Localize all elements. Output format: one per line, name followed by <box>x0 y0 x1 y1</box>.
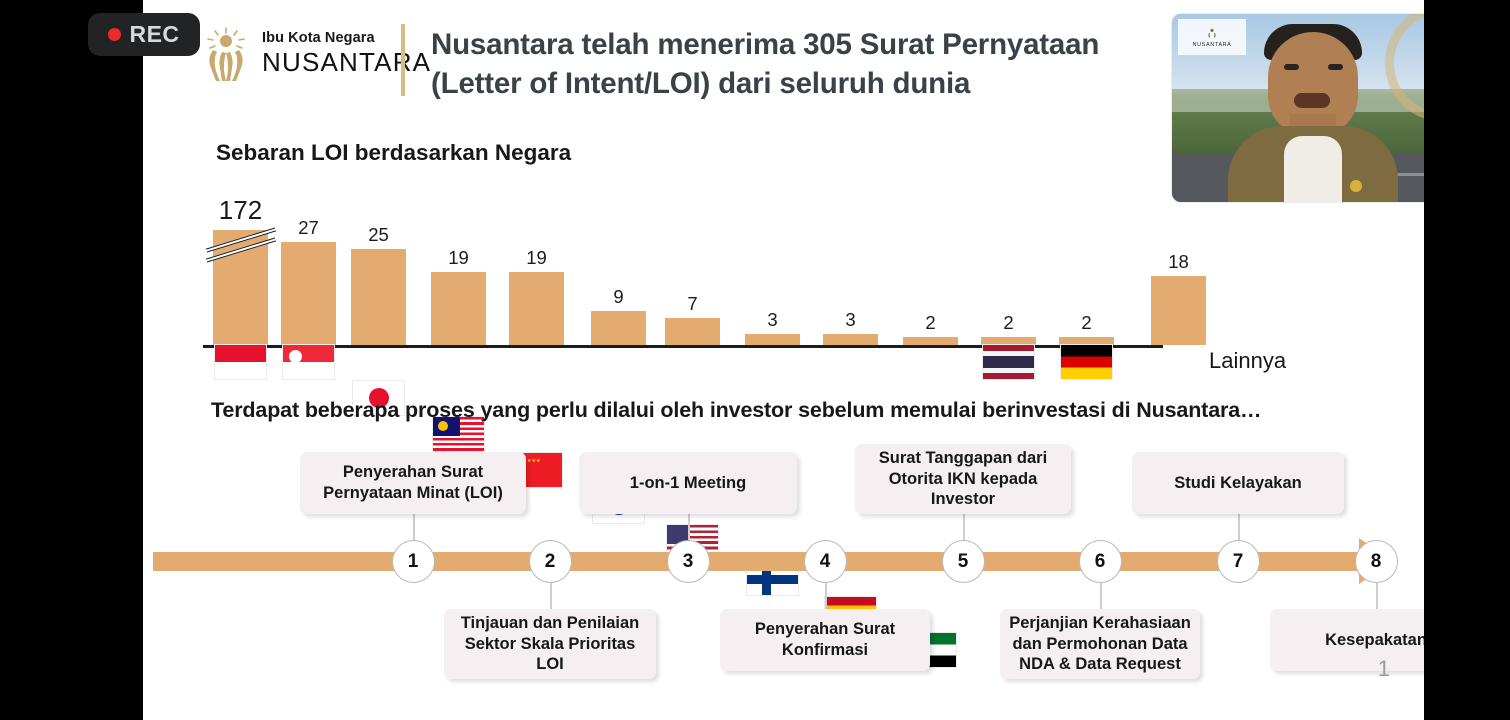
watermark-emblem-icon <box>1204 26 1220 41</box>
watermark-label: NUSANTARA <box>1193 42 1232 48</box>
timeline-node-1[interactable]: 1 <box>392 540 435 583</box>
timeline-node-6[interactable]: 6 <box>1079 540 1122 583</box>
flag-id-icon <box>214 344 267 380</box>
timeline-step-label: Penyerahan SuratPernyataan Minat (LOI) <box>323 462 503 503</box>
timeline-connector <box>1376 583 1378 609</box>
speaker-eye <box>1328 64 1343 70</box>
timeline-node-3[interactable]: 3 <box>667 540 710 583</box>
timeline-step-label: Tinjauan dan PenilaianSektor Skala Prior… <box>461 613 640 675</box>
nusantara-logo: Ibu Kota Negara NUSANTARA <box>200 24 431 82</box>
bar-value-label: 27 <box>281 217 336 239</box>
timeline-node-2[interactable]: 2 <box>529 540 572 583</box>
timeline-connector <box>413 514 415 540</box>
bar-column: 172 <box>213 196 268 345</box>
bar <box>823 334 878 346</box>
timeline-step-card[interactable]: 1-on-1 Meeting <box>579 452 797 514</box>
chart-tick-lainnya: Lainnya <box>1209 348 1286 374</box>
bar-column: 19 <box>509 238 564 345</box>
timeline-step-label: Surat Tanggapan dariOtorita IKN kepadaIn… <box>879 448 1047 510</box>
timeline-node-8[interactable]: 8 <box>1355 540 1398 583</box>
flag-sg-icon <box>282 344 335 380</box>
bar-column: 3 <box>823 300 878 346</box>
chart-title: Sebaran LOI berdasarkan Negara <box>216 140 571 166</box>
timeline-step-card[interactable]: Surat Tanggapan dariOtorita IKN kepadaIn… <box>855 444 1071 514</box>
timeline-step-card[interactable]: Studi Kelayakan <box>1132 452 1344 514</box>
bar <box>665 318 720 345</box>
bar-column: 9 <box>591 277 646 346</box>
recording-label: REC <box>129 21 179 48</box>
header-divider <box>401 24 405 96</box>
process-subtitle: Terdapat beberapa proses yang perlu dila… <box>211 398 1261 423</box>
bar-value-label: 2 <box>1059 312 1114 334</box>
video-watermark: NUSANTARA <box>1178 19 1246 55</box>
bar-column: 18 <box>1151 242 1206 345</box>
timeline-bar <box>153 552 1368 571</box>
timeline-step-label: Perjanjian Kerahasiaandan Permohonan Dat… <box>1009 613 1191 675</box>
bar <box>213 230 268 345</box>
bar <box>351 249 406 345</box>
timeline-step-label: Studi Kelayakan <box>1174 473 1301 494</box>
bar-column: 19 <box>431 238 486 345</box>
page-number: 1 <box>1378 656 1390 682</box>
bar-value-label: 18 <box>1151 251 1206 273</box>
speaker-mouth <box>1294 93 1330 108</box>
timeline-node-4[interactable]: 4 <box>804 540 847 583</box>
bar <box>281 242 336 346</box>
flag-th-icon <box>982 344 1035 380</box>
screen-root: Ibu Kota Negara NUSANTARA Nusantara tela… <box>0 0 1510 720</box>
page-title-line1: Nusantara telah menerima 305 Surat Perny… <box>431 26 1201 65</box>
video-participant-tile[interactable]: NUSANTARA <box>1172 14 1424 202</box>
bar-column: 2 <box>903 303 958 345</box>
flag-de-icon <box>1060 344 1113 380</box>
bar-value-label: 7 <box>665 293 720 315</box>
brand-name: NUSANTARA <box>262 49 431 75</box>
timeline-step-card[interactable]: Tinjauan dan PenilaianSektor Skala Prior… <box>444 609 656 679</box>
bar-value-label: 19 <box>431 247 486 269</box>
speaker-shirt <box>1284 136 1342 202</box>
bar-column: 2 <box>981 303 1036 345</box>
bar-column: 27 <box>281 208 336 346</box>
ikn-emblem-icon <box>200 24 252 82</box>
timeline-connector <box>1100 583 1102 609</box>
brand-subtitle: Ibu Kota Negara <box>262 31 431 46</box>
bar-value-label: 172 <box>213 195 268 226</box>
timeline-node-7[interactable]: 7 <box>1217 540 1260 583</box>
video-speaker <box>1228 42 1398 202</box>
bar-value-label: 2 <box>981 312 1036 334</box>
slide-canvas: Ibu Kota Negara NUSANTARA Nusantara tela… <box>143 0 1424 720</box>
timeline-step-card[interactable]: Perjanjian Kerahasiaandan Permohonan Dat… <box>1000 609 1200 679</box>
page-title-line2: (Letter of Intent/LOI) dari seluruh duni… <box>431 65 1201 104</box>
bar-column: 3 <box>745 300 800 346</box>
bar-column: 25 <box>351 215 406 345</box>
bar <box>1151 276 1206 345</box>
timeline-step-label: 1-on-1 Meeting <box>630 473 746 494</box>
bar-value-label: 3 <box>823 309 878 331</box>
bar-value-label: 3 <box>745 309 800 331</box>
timeline-step-label: Kesepakatan <box>1325 630 1424 651</box>
bar-value-label: 25 <box>351 224 406 246</box>
bar <box>509 272 564 345</box>
bar <box>745 334 800 346</box>
bar-column: 2 <box>1059 303 1114 345</box>
timeline-step-card[interactable]: Penyerahan SuratKonfirmasi <box>720 609 930 671</box>
timeline-connector <box>1238 514 1240 540</box>
timeline-connector <box>688 514 690 540</box>
timeline-node-5[interactable]: 5 <box>942 540 985 583</box>
bar-value-label: 9 <box>591 286 646 308</box>
bar <box>431 272 486 345</box>
timeline-step-label: Penyerahan SuratKonfirmasi <box>755 619 895 660</box>
timeline-step-card[interactable]: Penyerahan SuratPernyataan Minat (LOI) <box>300 452 526 514</box>
page-title: Nusantara telah menerima 305 Surat Perny… <box>431 26 1201 104</box>
timeline-connector <box>963 514 965 540</box>
bar-value-label: 19 <box>509 247 564 269</box>
bar <box>903 337 958 345</box>
bar-column: 7 <box>665 284 720 345</box>
record-dot-icon <box>108 28 121 41</box>
speaker-lapel-pin <box>1350 180 1362 192</box>
speaker-eye <box>1284 64 1299 70</box>
timeline-connector <box>825 583 827 609</box>
timeline-step-card[interactable]: Kesepakatan <box>1270 609 1424 671</box>
process-timeline: 1Penyerahan SuratPernyataan Minat (LOI)2… <box>143 440 1424 700</box>
timeline-connector <box>550 583 552 609</box>
bar <box>591 311 646 346</box>
recording-badge: REC <box>88 13 200 56</box>
bar-value-label: 2 <box>903 312 958 334</box>
